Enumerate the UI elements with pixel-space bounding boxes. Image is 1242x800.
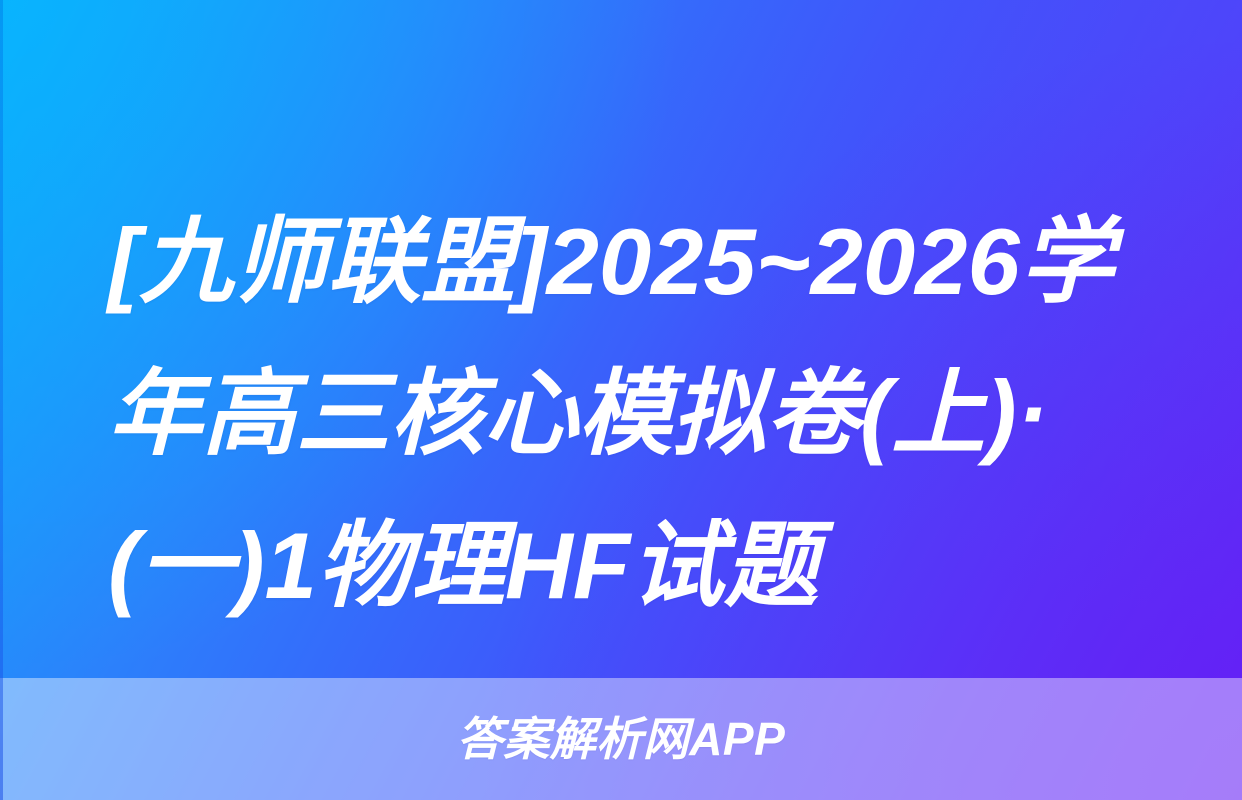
watermark-band: 答案解析网APP <box>0 678 1242 800</box>
left-edge-accent <box>0 0 3 800</box>
watermark-label: 答案解析网APP <box>457 716 786 762</box>
cover-title-block: [九师联盟]2025~2026学年高三核心模拟卷(上)·(一)1物理HF试题 <box>108 186 1143 642</box>
exam-cover-page: [九师联盟]2025~2026学年高三核心模拟卷(上)·(一)1物理HF试题 答… <box>0 0 1242 800</box>
page-title: [九师联盟]2025~2026学年高三核心模拟卷(上)·(一)1物理HF试题 <box>108 186 1143 642</box>
